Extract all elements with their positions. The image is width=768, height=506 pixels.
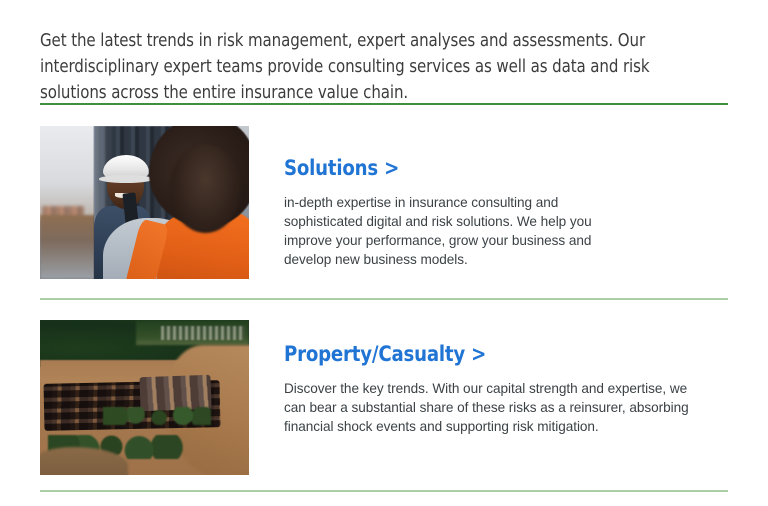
section-divider-bottom (40, 490, 728, 492)
card-property-casualty-body: Property/Casualty > Discover the key tre… (284, 320, 714, 436)
aerial-flood-photo (40, 320, 249, 475)
photo-hard-hat-brim (99, 175, 153, 183)
card-property-casualty-heading-link[interactable]: Property/Casualty > (284, 320, 697, 366)
card-solutions-heading-link[interactable]: Solutions > (284, 126, 697, 180)
card-solutions-image (40, 126, 249, 279)
photo-distant-town (161, 326, 245, 340)
card-property-casualty: Property/Casualty > Discover the key tre… (40, 320, 728, 475)
card-property-casualty-description: Discover the key trends. With our capita… (284, 366, 694, 436)
card-solutions-description: in-depth expertise in insurance consulti… (284, 180, 640, 269)
photo-ground (40, 215, 99, 279)
photo-treeline-middle (103, 407, 212, 426)
card-solutions: Solutions > in-depth expertise in insura… (40, 126, 728, 279)
construction-workers-photo (40, 126, 249, 279)
section-divider-middle (40, 298, 728, 300)
section-divider-top (40, 103, 728, 105)
photo-foreground-hair-detail (170, 144, 241, 233)
photo-submerged-houses-secondary (140, 375, 212, 412)
content-page: Get the latest trends in risk management… (0, 0, 768, 506)
card-property-casualty-image (40, 320, 249, 475)
intro-paragraph: Get the latest trends in risk management… (40, 28, 697, 106)
card-solutions-body: Solutions > in-depth expertise in insura… (284, 126, 714, 269)
